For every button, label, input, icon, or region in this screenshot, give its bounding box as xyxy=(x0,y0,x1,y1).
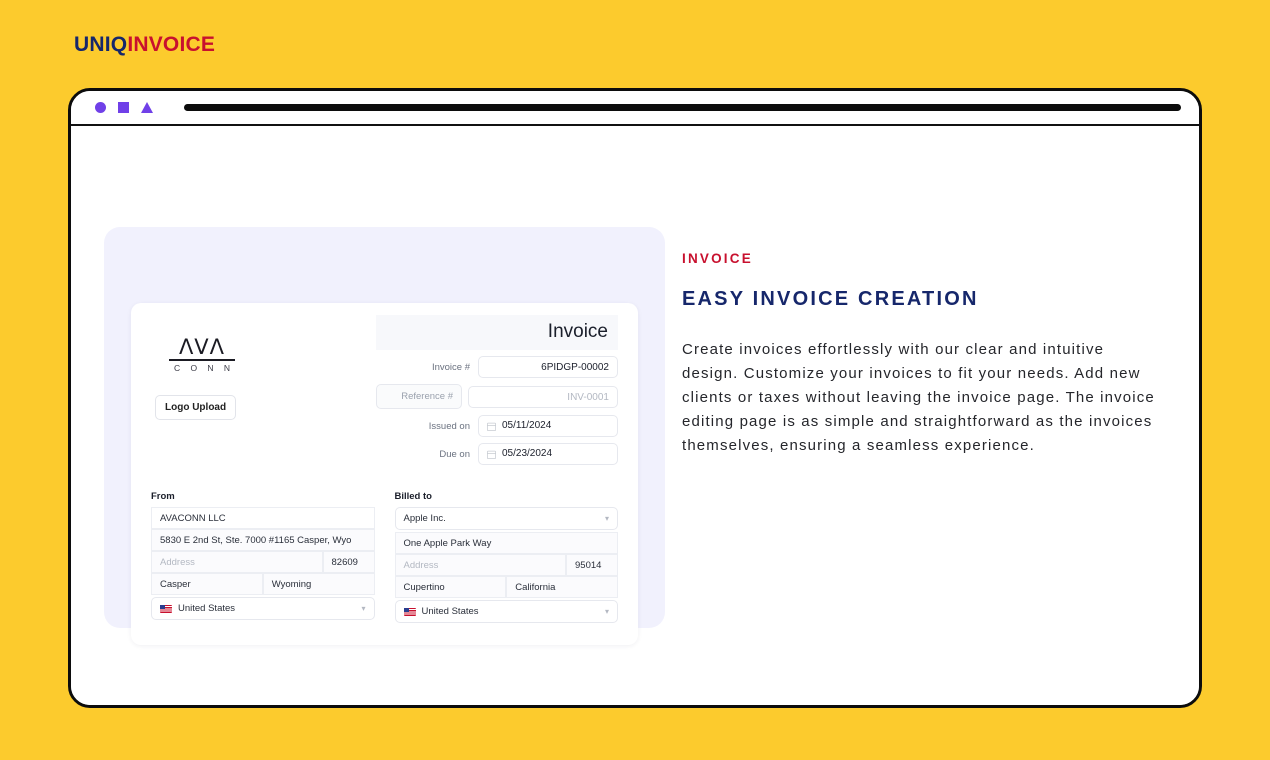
triangle-icon[interactable] xyxy=(141,102,153,113)
billed-to-company-value: Apple Inc. xyxy=(404,513,446,524)
due-on-input[interactable]: 05/23/2024 xyxy=(478,443,618,465)
brand-logo-uniq: UNIQ xyxy=(74,33,127,56)
billed-to-block: Billed to Apple Inc. ▾ One Apple Park Wa… xyxy=(395,491,619,623)
from-block: From AVACONN LLC 5830 E 2nd St, Ste. 700… xyxy=(151,491,375,623)
browser-window-mockup: ΛVΛ C O N N Logo Upload Invoice Invoice … xyxy=(68,88,1202,708)
company-logo: ΛVΛ C O N N xyxy=(169,337,235,373)
from-address-row: Address 82609 xyxy=(151,551,375,573)
chevron-down-icon: ▾ xyxy=(605,514,609,523)
circle-icon[interactable] xyxy=(95,102,106,113)
reference-number-input[interactable]: INV-0001 xyxy=(468,386,618,408)
billed-to-zip-input[interactable]: 95014 xyxy=(566,554,618,576)
billed-to-city-input[interactable]: Cupertino xyxy=(395,576,507,598)
brand-logo: UNIQINVOICE xyxy=(74,33,215,57)
issued-on-label: Issued on xyxy=(376,421,478,432)
from-city-input[interactable]: Casper xyxy=(151,573,263,595)
billed-to-state-input[interactable]: California xyxy=(506,576,618,598)
address-bar[interactable] xyxy=(184,104,1181,111)
calendar-icon xyxy=(487,450,496,459)
due-on-label: Due on xyxy=(376,449,478,460)
billed-to-country-select[interactable]: United States ▾ xyxy=(395,600,619,623)
from-address-input[interactable]: Address xyxy=(151,551,323,573)
invoice-parties: From AVACONN LLC 5830 E 2nd St, Ste. 700… xyxy=(131,465,638,623)
from-zip-input[interactable]: 82609 xyxy=(323,551,375,573)
brand-logo-invoice: INVOICE xyxy=(127,33,215,56)
invoice-title: Invoice xyxy=(548,321,608,342)
eyebrow-label: INVOICE xyxy=(682,251,1172,266)
from-city-state-row: Casper Wyoming xyxy=(151,573,375,595)
invoice-number-input[interactable]: 6PIDGP-00002 xyxy=(478,356,618,378)
invoice-card: ΛVΛ C O N N Logo Upload Invoice Invoice … xyxy=(131,303,638,645)
issued-on-input[interactable]: 05/11/2024 xyxy=(478,415,618,437)
browser-viewport: ΛVΛ C O N N Logo Upload Invoice Invoice … xyxy=(71,126,1199,708)
billed-to-country-value: United States xyxy=(422,606,479,617)
window-controls xyxy=(95,102,153,113)
invoice-title-band: Invoice xyxy=(376,315,618,350)
invoice-header: ΛVΛ C O N N Logo Upload Invoice Invoice … xyxy=(131,303,638,465)
billed-to-heading: Billed to xyxy=(395,491,619,502)
browser-chrome-bar xyxy=(71,91,1199,126)
company-logo-mark: ΛVΛ xyxy=(169,337,235,358)
billed-to-company-select[interactable]: Apple Inc. ▾ xyxy=(395,507,619,530)
invoice-logo-column: ΛVΛ C O N N Logo Upload xyxy=(151,325,376,465)
us-flag-icon xyxy=(160,605,172,613)
calendar-icon xyxy=(487,422,496,431)
field-row-reference-number: Reference # INV-0001 xyxy=(376,384,618,409)
page-title: EASY INVOICE CREATION xyxy=(682,288,1172,311)
logo-upload-button[interactable]: Logo Upload xyxy=(155,395,236,420)
due-on-value: 05/23/2024 xyxy=(502,449,552,459)
square-icon[interactable] xyxy=(118,102,129,113)
body-paragraph: Create invoices effortlessly with our cl… xyxy=(682,338,1157,458)
field-row-invoice-number: Invoice # 6PIDGP-00002 xyxy=(376,356,618,378)
from-street-input[interactable]: 5830 E 2nd St, Ste. 7000 #1165 Casper, W… xyxy=(151,529,375,551)
reference-number-label[interactable]: Reference # xyxy=(376,384,462,409)
billed-to-street-input[interactable]: One Apple Park Way xyxy=(395,532,619,554)
billed-to-city-state-row: Cupertino California xyxy=(395,576,619,598)
from-company-input[interactable]: AVACONN LLC xyxy=(151,507,375,529)
from-heading: From xyxy=(151,491,375,502)
billed-to-address-row: Address 95014 xyxy=(395,554,619,576)
from-country-select[interactable]: United States ▾ xyxy=(151,597,375,620)
chevron-down-icon: ▾ xyxy=(605,607,609,616)
company-logo-subtext: C O N N xyxy=(169,363,235,373)
billed-to-address-input[interactable]: Address xyxy=(395,554,567,576)
us-flag-icon xyxy=(404,608,416,616)
invoice-meta-column: Invoice Invoice # 6PIDGP-00002 Reference… xyxy=(376,315,618,465)
issued-on-value: 05/11/2024 xyxy=(502,421,551,431)
field-row-due-on: Due on 05/23/2024 xyxy=(376,443,618,465)
feature-copy: INVOICE EASY INVOICE CREATION Create inv… xyxy=(682,251,1172,458)
from-state-input[interactable]: Wyoming xyxy=(263,573,375,595)
from-country-value: United States xyxy=(178,603,235,614)
chevron-down-icon: ▾ xyxy=(361,604,365,613)
company-logo-rule xyxy=(169,359,235,361)
field-row-issued-on: Issued on 05/11/2024 xyxy=(376,415,618,437)
invoice-number-label: Invoice # xyxy=(376,362,478,373)
